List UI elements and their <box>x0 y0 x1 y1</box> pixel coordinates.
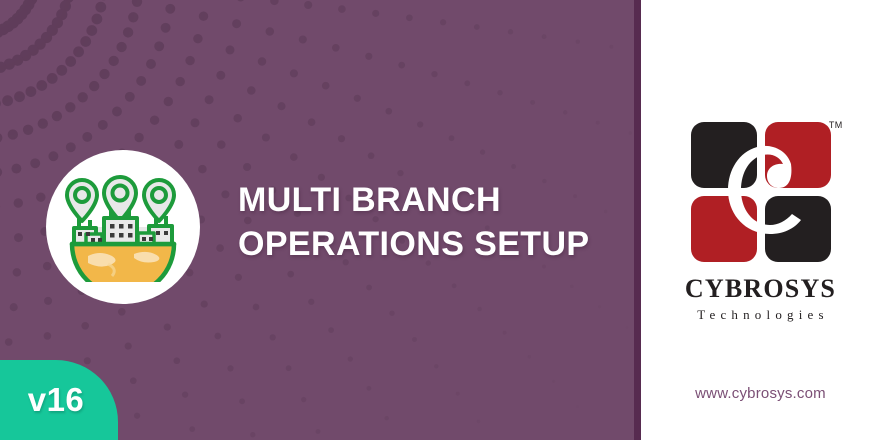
cybrosys-logo-mark: TM <box>687 118 835 266</box>
left-purple-panel: MULTI BRANCH OPERATIONS SETUP v16 <box>0 0 634 440</box>
right-white-panel: TM CYBROSYS Technologies www.cybrosys.co… <box>641 0 880 440</box>
trademark-symbol: TM <box>829 120 843 130</box>
title-line-1: MULTI BRANCH <box>238 178 618 222</box>
brand-block: TM CYBROSYS Technologies <box>641 118 880 324</box>
banner-title: MULTI BRANCH OPERATIONS SETUP <box>238 178 618 266</box>
panel-divider <box>634 0 641 440</box>
title-line-2: OPERATIONS SETUP <box>238 222 618 266</box>
brand-name: CYBROSYS <box>641 274 880 304</box>
brand-tagline: Technologies <box>641 306 880 324</box>
multi-branch-globe-icon <box>64 172 182 282</box>
feature-icon-badge <box>46 150 200 304</box>
version-label: v16 <box>28 381 85 419</box>
cybrosys-squares-icon <box>687 118 835 266</box>
promo-banner: MULTI BRANCH OPERATIONS SETUP v16 TM CYB… <box>0 0 880 440</box>
website-url[interactable]: www.cybrosys.com <box>641 385 880 402</box>
